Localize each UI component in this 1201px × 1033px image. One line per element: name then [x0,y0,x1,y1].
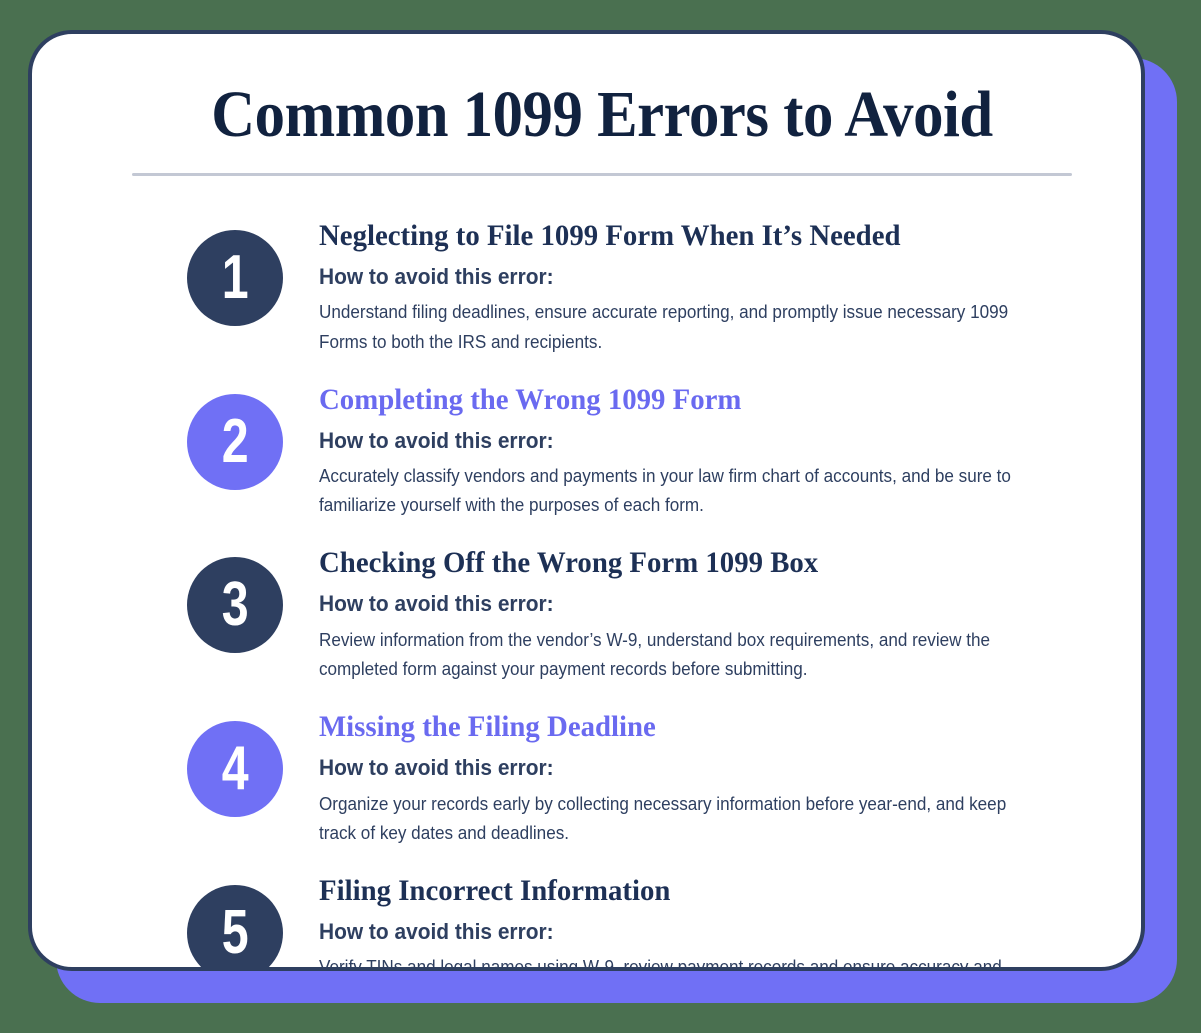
list-item: 1 Neglecting to File 1099 Form When It’s… [187,216,1107,357]
item-number: 2 [222,411,249,473]
infographic-stage: Common 1099 Errors to Avoid 1 Neglecting… [0,0,1201,1033]
item-subheading: How to avoid this error: [319,919,1068,945]
item-heading: Checking Off the Wrong Form 1099 Box [319,545,1075,581]
item-body: Checking Off the Wrong Form 1099 Box How… [283,543,1107,684]
item-number: 3 [222,574,249,636]
item-number: 4 [222,738,249,800]
item-subheading: How to avoid this error: [319,264,1068,290]
item-number: 5 [222,902,249,964]
item-number-badge: 1 [187,230,283,326]
item-text: Verify TINs and legal names using W-9, r… [319,953,1041,971]
item-number-badge: 4 [187,721,283,817]
item-number-badge: 3 [187,557,283,653]
item-number: 1 [222,247,249,309]
item-heading: Filing Incorrect Information [319,873,1075,909]
error-list: 1 Neglecting to File 1099 Form When It’s… [187,216,1107,971]
item-number-badge: 2 [187,394,283,490]
item-subheading: How to avoid this error: [319,591,1068,617]
item-body: Filing Incorrect Information How to avoi… [283,871,1107,971]
item-body: Missing the Filing Deadline How to avoid… [283,707,1107,848]
item-heading: Missing the Filing Deadline [319,709,1075,745]
item-subheading: How to avoid this error: [319,755,1068,781]
item-body: Neglecting to File 1099 Form When It’s N… [283,216,1107,357]
item-body: Completing the Wrong 1099 Form How to av… [283,380,1107,521]
item-text: Understand filing deadlines, ensure accu… [319,298,1041,356]
page-title: Common 1099 Errors to Avoid [170,82,1035,148]
list-item: 5 Filing Incorrect Information How to av… [187,871,1107,971]
title-divider [132,173,1072,176]
item-text: Review information from the vendor’s W-9… [319,626,1041,684]
item-heading: Neglecting to File 1099 Form When It’s N… [319,218,1075,254]
item-text: Accurately classify vendors and payments… [319,462,1041,520]
item-text: Organize your records early by collectin… [319,790,1041,848]
item-number-badge: 5 [187,885,283,971]
list-item: 4 Missing the Filing Deadline How to avo… [187,707,1107,848]
title-block: Common 1099 Errors to Avoid [132,82,1072,176]
item-heading: Completing the Wrong 1099 Form [319,382,1075,418]
infographic-card: Common 1099 Errors to Avoid 1 Neglecting… [28,30,1145,971]
list-item: 3 Checking Off the Wrong Form 1099 Box H… [187,543,1107,684]
item-subheading: How to avoid this error: [319,428,1068,454]
list-item: 2 Completing the Wrong 1099 Form How to … [187,380,1107,521]
